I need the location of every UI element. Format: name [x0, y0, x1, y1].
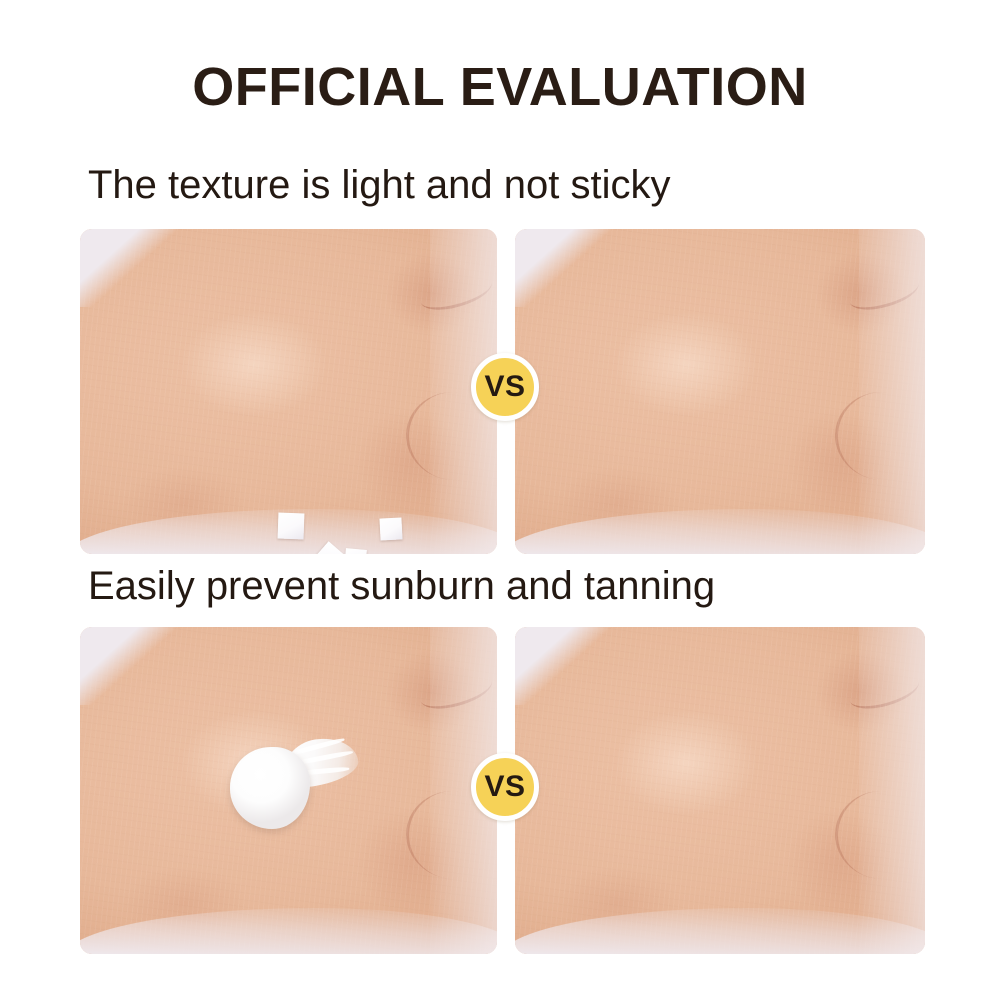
backdrop-corner-top-left	[80, 229, 197, 307]
section-caption-texture: The texture is light and not sticky	[88, 162, 671, 208]
vs-badge-texture: VS	[471, 353, 539, 421]
backdrop-corner-top-left	[515, 229, 630, 307]
photo-panel-sticky-test-before	[80, 229, 497, 554]
backdrop-corner-top-left	[515, 627, 630, 705]
cream-dollop	[230, 737, 360, 832]
vs-badge-sunburn: VS	[471, 753, 539, 821]
backdrop-right-edge	[859, 229, 925, 554]
photo-panel-cream-absorbed	[515, 627, 925, 954]
photo-panel-cream-applied	[80, 627, 497, 954]
backdrop-right-edge	[859, 627, 925, 954]
paper-chip	[278, 513, 305, 540]
cream-body	[230, 747, 310, 829]
backdrop-corner-top-left	[80, 627, 197, 705]
section-caption-sunburn: Easily prevent sunburn and tanning	[88, 563, 715, 609]
product-evaluation-page: OFFICIAL EVALUATION The texture is light…	[0, 0, 1000, 1000]
page-title: OFFICIAL EVALUATION	[0, 58, 1000, 117]
paper-chip	[379, 517, 402, 540]
photo-panel-sticky-test-after	[515, 229, 925, 554]
paper-chip	[344, 548, 367, 554]
